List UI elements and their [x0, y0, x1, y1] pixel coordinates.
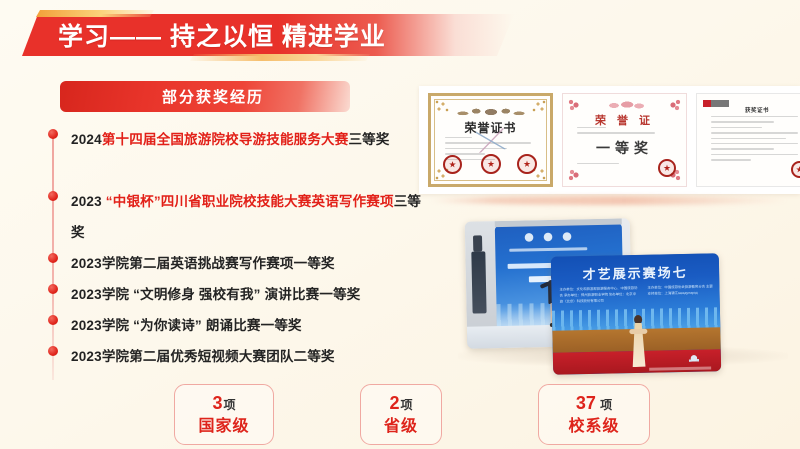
stat-box-provincial: 2项 省级 — [360, 384, 442, 445]
timeline-dot-icon — [48, 284, 58, 294]
award-suffix: 三等奖 — [348, 132, 389, 147]
stat-number: 37 — [576, 393, 596, 413]
page-title: 学习—— 持之以恒 精进学业 — [58, 14, 386, 56]
photo-speaker-small — [473, 235, 482, 251]
watermark-icon — [475, 127, 506, 153]
award-prefix: 2023 — [71, 194, 106, 209]
stat-level-label: 省级 — [384, 416, 418, 438]
award-text: 2023学院第二届英语挑战赛写作赛项一等奖 — [71, 248, 423, 279]
certificates-shadow — [429, 196, 789, 205]
timeline-dot-icon — [48, 346, 58, 356]
flourish-icon — [603, 101, 647, 110]
seal-icon — [481, 154, 501, 174]
certificate-body-lines — [577, 127, 672, 138]
slide-root: 学习—— 持之以恒 精进学业 部分获奖经历 2024第十四届全国旅游院校导游技能… — [0, 0, 800, 449]
stat-unit: 项 — [401, 398, 413, 412]
timeline-dot-icon — [48, 253, 58, 263]
certificate-award-level: 一等奖 — [563, 138, 686, 158]
timeline-dot-icon — [48, 315, 58, 325]
stat-box-national: 3项 国家级 — [174, 384, 274, 445]
award-text: 2023学院第二届优秀短视频大赛团队二等奖 — [71, 341, 423, 372]
award-prefix: 2024 — [71, 132, 102, 147]
stat-number: 2 — [389, 393, 399, 413]
certificate-title: 获奖证书 — [697, 106, 800, 114]
stat-box-school: 37 项 校系级 — [538, 384, 650, 445]
award-text: 2023学院 “为你读诗” 朗诵比赛一等奖 — [71, 310, 423, 341]
timeline-dot-icon — [48, 129, 58, 139]
photo-speaker — [471, 251, 486, 313]
flourish-icon — [454, 108, 528, 117]
timeline-dot-icon — [48, 191, 58, 201]
award-highlight: “中银杯”四川省职业院校技能大赛英语写作赛项 — [106, 194, 394, 209]
section-heading-banner: 部分获奖经历 — [60, 81, 350, 112]
awards-timeline: 2024第十四届全国旅游院校导游技能服务大赛三等奖 2023 “中银杯”四川省职… — [44, 124, 424, 374]
certificates-strip: 荣誉证书 荣 誉 证 一等奖 — [419, 86, 800, 194]
certificate-title: 荣 誉 证 — [563, 112, 686, 128]
competition-photo-front: 才艺展示赛场七 主办单位：文化和旅游部旅游服务中心、中国旅游协会 承办单位：郑州… — [551, 253, 721, 374]
certificate-body-lines — [711, 116, 800, 165]
ornament-icon — [435, 100, 452, 115]
seal-icon — [517, 154, 537, 174]
seal-icon — [658, 159, 676, 177]
photo-screen-title: 才艺展示赛场七 — [551, 261, 719, 284]
stat-level-label: 国家级 — [198, 416, 249, 438]
photo-screen-text-left: 主办单位：文化和旅游部旅游服务中心、中国旅游协会 承办单位：郑州旅游职业学院 协… — [559, 285, 637, 305]
certificate-image-2: 荣 誉 证 一等奖 — [562, 93, 687, 187]
photo-screen-text-right: 主办单位：中国旅游协会旅游教育分会 主要支持单位：上海锦江международ — [647, 283, 715, 296]
section-heading-label: 部分获奖经历 — [162, 86, 264, 107]
photo-logo-row-icon — [519, 231, 575, 242]
stat-count-row: 2项 — [389, 392, 412, 416]
title-banner: 学习—— 持之以恒 精进学业 — [22, 14, 514, 56]
seal-icon — [791, 161, 800, 178]
award-text: 2024第十四届全国旅游院校导游技能服务大赛三等奖 — [71, 124, 423, 155]
award-text: 2023学院 “文明修身 强校有我” 演讲比赛一等奖 — [71, 279, 423, 310]
award-highlight: 第十四届全国旅游院校导游技能服务大赛 — [102, 132, 349, 147]
ornament-icon — [529, 100, 546, 115]
ornament-icon — [567, 169, 580, 182]
ornament-icon — [669, 98, 682, 111]
stat-unit: 项 — [597, 398, 612, 412]
stat-count-row: 3项 — [212, 392, 235, 416]
stat-unit: 项 — [224, 398, 236, 412]
stat-number: 3 — [212, 393, 222, 413]
stat-level-label: 校系级 — [568, 416, 619, 438]
award-text: 2023 “中银杯”四川省职业院校技能大赛英语写作赛项三等奖 — [71, 186, 423, 248]
seal-icon — [443, 155, 462, 174]
ornament-icon — [567, 98, 580, 111]
stat-count-row: 37 项 — [576, 392, 612, 416]
certificate-image-3: 获奖证书 — [696, 93, 800, 187]
photo-person — [628, 315, 649, 367]
certificate-image-1: 荣誉证书 — [428, 93, 553, 187]
photo-emblem-icon — [689, 355, 699, 366]
